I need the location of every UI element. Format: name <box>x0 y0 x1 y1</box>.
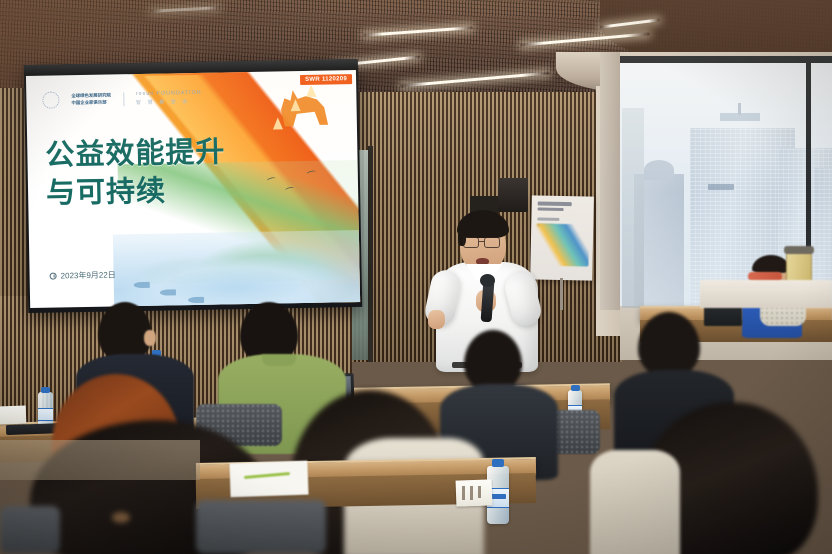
buffet-counter <box>700 280 832 308</box>
slide-surface: SWR 1120209 全球绿色发展研究院 中国企业家俱乐部 rosun FOU… <box>26 70 360 308</box>
attendee-head <box>464 330 522 392</box>
hair-tie <box>112 512 130 523</box>
name-card-text <box>470 486 473 500</box>
illustration-water <box>113 230 360 308</box>
bottle-brand-text <box>490 494 506 499</box>
attendee-beige-right <box>590 440 680 554</box>
attendee-hair <box>752 255 790 273</box>
globe-logo-icon <box>42 91 59 108</box>
speaker-glasses-right-lens <box>484 237 500 248</box>
rollup-headline <box>538 201 572 206</box>
rollup-artwork <box>534 223 589 266</box>
window-jamb-left <box>600 52 620 310</box>
illustration-fish <box>134 282 150 288</box>
microphone-head <box>480 274 495 287</box>
rollup-stand-pole <box>560 278 563 310</box>
clock-icon <box>50 273 57 280</box>
slide-title-line1: 公益效能提升 <box>45 132 226 174</box>
slide-logo-row: 全球绿色发展研究院 中国企业家俱乐部 rosun FOUNDATION 智 慧 … <box>42 89 202 109</box>
notepad <box>229 461 308 498</box>
name-card-left <box>0 406 26 425</box>
slide-title: 公益效能提升 与可持续 <box>45 132 226 212</box>
conference-photo: SWR 1120209 全球绿色发展研究院 中国企业家俱乐部 rosun FOU… <box>0 0 832 554</box>
chair-foreground-left <box>0 506 60 554</box>
illustration-arrow <box>306 85 316 97</box>
speaker-glasses-bridge <box>479 241 484 242</box>
dispenser-lid <box>784 246 814 254</box>
chair-foreground <box>196 500 326 554</box>
attendee-head <box>98 302 152 362</box>
illustration-arrow <box>290 99 300 111</box>
attendee-head <box>638 312 700 378</box>
slide-logo-en: rosun FOUNDATION 智 慧 基 金 会 <box>136 90 202 106</box>
bottle-cap <box>571 385 580 391</box>
beige-shirt <box>590 450 680 554</box>
name-card-text <box>462 486 465 500</box>
floor <box>0 440 200 480</box>
projection-screen: SWR 1120209 全球绿色发展研究院 中国企业家俱乐部 rosun FOU… <box>24 59 362 313</box>
slide-date: 2023年9月22日 <box>50 269 116 281</box>
door-frame <box>368 146 373 362</box>
attendee-collar <box>262 354 296 366</box>
glass-door-left <box>622 108 644 308</box>
slide-title-line2: 与可持续 <box>46 171 227 213</box>
speaker-glasses-left-lens <box>463 237 479 248</box>
slide-badge: SWR 1120209 <box>300 74 352 85</box>
slide-logo-cn: 全球绿色发展研究院 中国企业家俱乐部 <box>71 92 111 106</box>
illustration-fish <box>160 289 176 295</box>
name-card-text <box>478 486 481 498</box>
logo-divider <box>123 92 124 106</box>
bottle-cap <box>492 459 504 467</box>
speaker-hand-left <box>428 310 445 329</box>
slide-date-text: 2023年9月22日 <box>61 269 116 281</box>
window-mullion-top <box>618 56 832 63</box>
attendee-ear <box>144 330 156 346</box>
illustration-arrow <box>273 117 283 129</box>
speaker-mouth <box>476 258 489 265</box>
